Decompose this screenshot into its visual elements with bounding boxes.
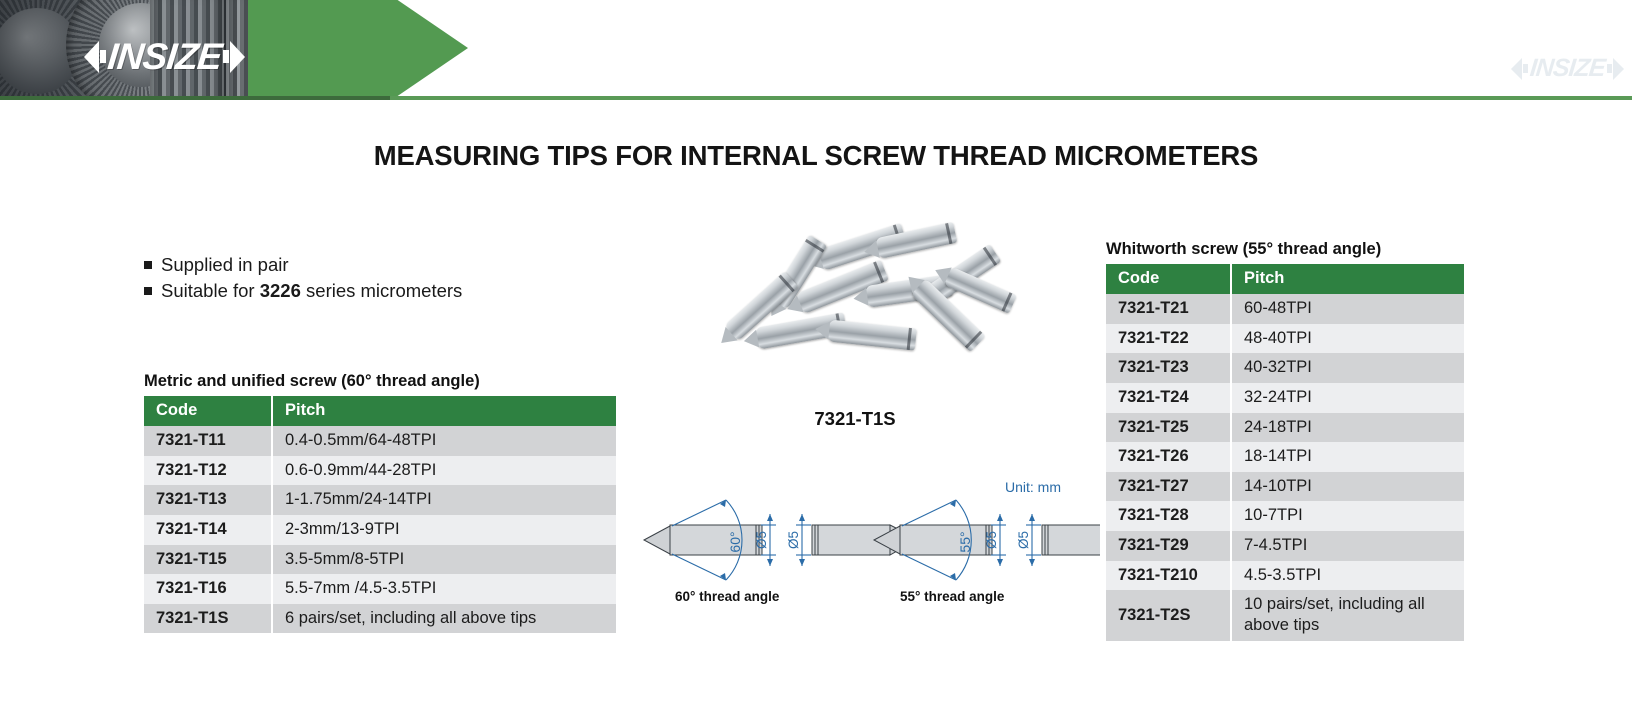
cell-pitch: 48-40TPI: [1231, 324, 1464, 354]
table-header-row: Code Pitch: [144, 396, 616, 426]
cell-code: 7321-T29: [1106, 531, 1231, 561]
bullet-text: Suitable for 3226 series micrometers: [161, 278, 462, 304]
diameter-label-left-1: Ø5: [754, 531, 769, 549]
cell-code: 7321-T25: [1106, 413, 1231, 443]
right-arrow-icon: [230, 41, 245, 73]
cell-pitch: 3.5-5mm/8-5TPI: [272, 545, 616, 575]
angle-label-60: 60°: [727, 531, 743, 552]
insize-watermark-logo: INSIZE: [1511, 56, 1624, 81]
bullet-text: Supplied in pair: [161, 252, 289, 278]
cell-pitch: 0.4-0.5mm/64-48TPI: [272, 426, 616, 456]
measuring-tip-pin: [827, 319, 917, 350]
list-item: Suitable for 3226 series micrometers: [144, 278, 462, 304]
diameter-label-right-1: Ø5: [984, 531, 999, 549]
cell-code: 7321-T1S: [144, 604, 272, 634]
cell-code: 7321-T24: [1106, 383, 1231, 413]
bullet-text-bold: 3226: [260, 280, 301, 301]
table-row: 7321-T2248-40TPI: [1106, 324, 1464, 354]
cell-pitch: 32-24TPI: [1231, 383, 1464, 413]
cell-pitch: 4.5-3.5TPI: [1231, 561, 1464, 591]
square-bullet-icon: [144, 287, 152, 295]
cell-code: 7321-T16: [144, 574, 272, 604]
cell-code: 7321-T21: [1106, 294, 1231, 324]
column-header-pitch: Pitch: [1231, 264, 1464, 294]
green-chevron-banner: [248, 0, 468, 96]
table-row: 7321-T297-4.5TPI: [1106, 531, 1464, 561]
left-arrow-tail-icon: [100, 50, 106, 63]
whitworth-table-body: 7321-T2160-48TPI7321-T2248-40TPI7321-T23…: [1106, 294, 1464, 641]
insize-watermark-text: INSIZE: [1529, 56, 1606, 81]
diameter-label-left-2: Ø5: [786, 531, 801, 549]
cell-code: 7321-T12: [144, 456, 272, 486]
cell-code: 7321-T15: [144, 545, 272, 575]
cell-code: 7321-T2S: [1106, 590, 1231, 640]
thread-angle-diagrams-svg: 60° Ø5: [630, 470, 1100, 600]
cell-pitch: 1-1.75mm/24-14TPI: [272, 485, 616, 515]
watermark-left-arrow-icon: [1511, 58, 1522, 80]
column-header-code: Code: [144, 396, 272, 426]
page-title: MEASURING TIPS FOR INTERNAL SCREW THREAD…: [0, 140, 1632, 172]
bullet-text-after: series micrometers: [301, 280, 462, 301]
whitworth-screw-table-block: Whitworth screw (55° thread angle) Code …: [1106, 240, 1464, 641]
metric-table-caption: Metric and unified screw (60° thread ang…: [144, 372, 616, 391]
product-photo-caption: 7321-T1S: [700, 408, 1010, 430]
table-row: 7321-T2160-48TPI: [1106, 294, 1464, 324]
cell-code: 7321-T23: [1106, 353, 1231, 383]
column-header-code: Code: [1106, 264, 1231, 294]
insize-logo: INSIZE: [84, 38, 245, 75]
cell-pitch: 6 pairs/set, including all above tips: [272, 604, 616, 634]
header-green-rule-left: [0, 96, 390, 100]
cell-code: 7321-T26: [1106, 442, 1231, 472]
table-row: 7321-T2714-10TPI: [1106, 472, 1464, 502]
diagram-caption-60: 60° thread angle: [675, 589, 779, 604]
whitworth-screw-table: Code Pitch 7321-T2160-48TPI7321-T2248-40…: [1106, 264, 1464, 641]
table-row: 7321-T2432-24TPI: [1106, 383, 1464, 413]
table-row: 7321-T2810-7TPI: [1106, 501, 1464, 531]
cell-code: 7321-T13: [144, 485, 272, 515]
cell-pitch: 40-32TPI: [1231, 353, 1464, 383]
table-row: 7321-T1S6 pairs/set, including all above…: [144, 604, 616, 634]
tip-60-body: [644, 525, 762, 555]
watermark-right-arrow-tail-icon: [1607, 64, 1612, 73]
right-arrow-tail-icon: [223, 50, 229, 63]
column-header-pitch: Pitch: [272, 396, 616, 426]
table-row: 7321-T153.5-5mm/8-5TPI: [144, 545, 616, 575]
metric-table-body: 7321-T110.4-0.5mm/64-48TPI7321-T120.6-0.…: [144, 426, 616, 633]
cell-pitch: 24-18TPI: [1231, 413, 1464, 443]
table-row: 7321-T2618-14TPI: [1106, 442, 1464, 472]
left-arrow-icon: [84, 41, 99, 73]
angle-label-55: 55°: [957, 531, 973, 552]
table-row: 7321-T110.4-0.5mm/64-48TPI: [144, 426, 616, 456]
page-header: INSIZE INSIZE: [0, 0, 1632, 100]
insize-logo-text: INSIZE: [106, 38, 223, 75]
metric-screw-table-block: Metric and unified screw (60° thread ang…: [144, 372, 616, 633]
table-row: 7321-T2104.5-3.5TPI: [1106, 561, 1464, 591]
cell-pitch: 60-48TPI: [1231, 294, 1464, 324]
cell-pitch: 2-3mm/13-9TPI: [272, 515, 616, 545]
table-header-row: Code Pitch: [1106, 264, 1464, 294]
table-row: 7321-T2S10 pairs/set, including all abov…: [1106, 590, 1464, 640]
cell-pitch: 0.6-0.9mm/44-28TPI: [272, 456, 616, 486]
cell-pitch: 10-7TPI: [1231, 501, 1464, 531]
whitworth-table-caption: Whitworth screw (55° thread angle): [1106, 240, 1464, 259]
cell-code: 7321-T14: [144, 515, 272, 545]
cell-code: 7321-T210: [1106, 561, 1231, 591]
cell-code: 7321-T22: [1106, 324, 1231, 354]
list-item: Supplied in pair: [144, 252, 462, 278]
cell-pitch: 14-10TPI: [1231, 472, 1464, 502]
cell-code: 7321-T28: [1106, 501, 1231, 531]
cell-code: 7321-T27: [1106, 472, 1231, 502]
feature-bullet-list: Supplied in pair Suitable for 3226 serie…: [144, 252, 462, 305]
right-group: 55° Ø5 Ø5: [874, 500, 1100, 580]
cell-code: 7321-T11: [144, 426, 272, 456]
diameter-label-right-2: Ø5: [1016, 531, 1031, 549]
cell-pitch: 5.5-7mm /4.5-3.5TPI: [272, 574, 616, 604]
bullet-text-before: Suitable for: [161, 280, 260, 301]
table-row: 7321-T142-3mm/13-9TPI: [144, 515, 616, 545]
diagram-caption-55: 55° thread angle: [900, 589, 1004, 604]
square-bullet-icon: [144, 261, 152, 269]
table-row: 7321-T120.6-0.9mm/44-28TPI: [144, 456, 616, 486]
table-row: 7321-T165.5-7mm /4.5-3.5TPI: [144, 574, 616, 604]
cell-pitch: 10 pairs/set, including all above tips: [1231, 590, 1464, 640]
watermark-left-arrow-tail-icon: [1523, 64, 1528, 73]
table-row: 7321-T2524-18TPI: [1106, 413, 1464, 443]
table-row: 7321-T131-1.75mm/24-14TPI: [144, 485, 616, 515]
product-photo: [700, 228, 1010, 388]
cell-pitch: 18-14TPI: [1231, 442, 1464, 472]
watermark-right-arrow-icon: [1613, 58, 1624, 80]
metric-screw-table: Code Pitch 7321-T110.4-0.5mm/64-48TPI732…: [144, 396, 616, 633]
catalog-page: INSIZE INSIZE MEASURING TIPS FOR INTERNA…: [0, 0, 1632, 715]
cell-pitch: 7-4.5TPI: [1231, 531, 1464, 561]
table-row: 7321-T2340-32TPI: [1106, 353, 1464, 383]
